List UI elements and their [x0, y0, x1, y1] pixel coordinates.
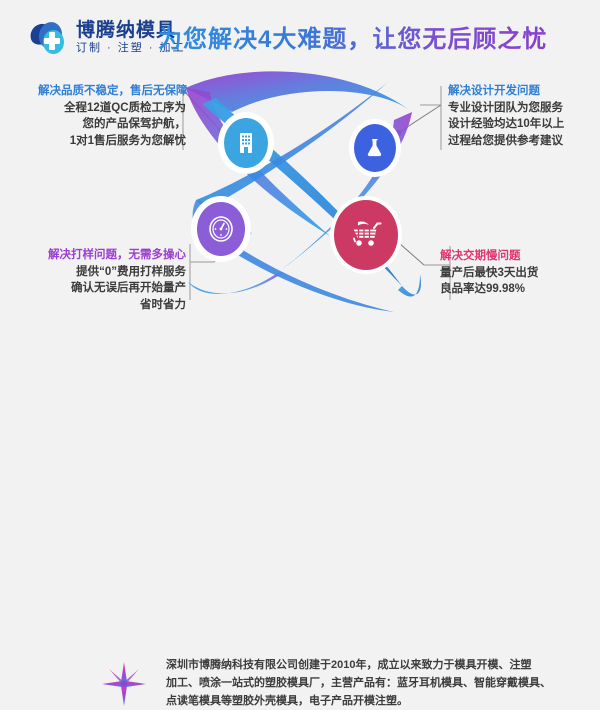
callout-delivery-line-2: 良品率达99.98%	[440, 281, 600, 298]
node-building[interactable]	[218, 112, 274, 174]
callout-design-line-1: 专业设计团队为您服务	[448, 100, 598, 117]
company-description: 深圳市博腾纳科技有限公司创建于2010年，成立以来致力于模具开模、注塑 加工、喷…	[166, 656, 586, 710]
callout-quality-line-2: 您的产品保驾护航，	[38, 116, 186, 133]
callout-sample-line-3: 省时省力	[22, 297, 186, 314]
node-gauge[interactable]	[191, 196, 251, 262]
callout-sample: 解决打样问题，无需多操心 提供“0”费用打样服务 确认无误后再开始量产 省时省力	[22, 248, 186, 314]
company-description-line-3: 点读笔模具等塑胶外壳模具，电子产品开模注塑。	[166, 692, 586, 710]
company-description-line-2: 加工、喷涂一站式的塑胶模具厂，主营产品有：蓝牙耳机模具、智能穿戴模具、	[166, 674, 586, 692]
callout-design-line-3: 过程给您提供参考建议	[448, 133, 598, 150]
callout-sample-line-1: 提供“0”费用打样服务	[22, 264, 186, 281]
flask-icon	[354, 124, 396, 172]
callout-quality-line-3: 1对1售后服务为您解忧	[38, 133, 186, 150]
callout-quality-heading: 解决品质不稳定，售后无保障	[38, 84, 186, 100]
page-title: 为您解决4大难题，让您无后顾之忧	[158, 19, 547, 54]
node-cart[interactable]	[330, 196, 402, 274]
callout-delivery-line-1: 量产后最快3天出货	[440, 265, 600, 282]
callout-design-line-2: 设计经验均达10年以上	[448, 116, 598, 133]
gauge-icon	[197, 202, 245, 256]
shopping-cart-icon	[334, 200, 398, 270]
center-orbit-graphic	[180, 60, 430, 320]
node-flask[interactable]	[349, 119, 401, 177]
building-icon	[224, 118, 268, 168]
callout-delivery-heading: 解决交期慢问题	[440, 249, 600, 265]
callout-design: 解决设计开发问题 专业设计团队为您服务 设计经验均达10年以上 过程给您提供参考…	[448, 84, 598, 150]
page-header: 博腾纳模具 订制 · 注塑 · 加工 为您解决4大难题，让您无后顾之忧	[0, 0, 600, 66]
callout-quality: 解决品质不稳定，售后无保障 全程12道QC质检工序为 您的产品保驾护航， 1对1…	[38, 84, 186, 150]
callout-delivery: 解决交期慢问题 量产后最快3天出货 良品率达99.98%	[440, 249, 600, 298]
company-description-line-1: 深圳市博腾纳科技有限公司创建于2010年，成立以来致力于模具开模、注塑	[166, 656, 586, 674]
poster-root: 博腾纳模具 订制 · 注塑 · 加工 为您解决4大难题，让您无后顾之忧	[0, 0, 600, 400]
compass-star-icon	[100, 660, 148, 708]
cross-blob-logo-icon	[30, 18, 70, 56]
callout-quality-line-1: 全程12道QC质检工序为	[38, 100, 186, 117]
callout-sample-heading: 解决打样问题，无需多操心	[22, 248, 186, 264]
callout-design-heading: 解决设计开发问题	[448, 84, 598, 100]
callout-sample-line-2: 确认无误后再开始量产	[22, 280, 186, 297]
page-footer: 深圳市博腾纳科技有限公司创建于2010年，成立以来致力于模具开模、注塑 加工、喷…	[0, 322, 600, 400]
